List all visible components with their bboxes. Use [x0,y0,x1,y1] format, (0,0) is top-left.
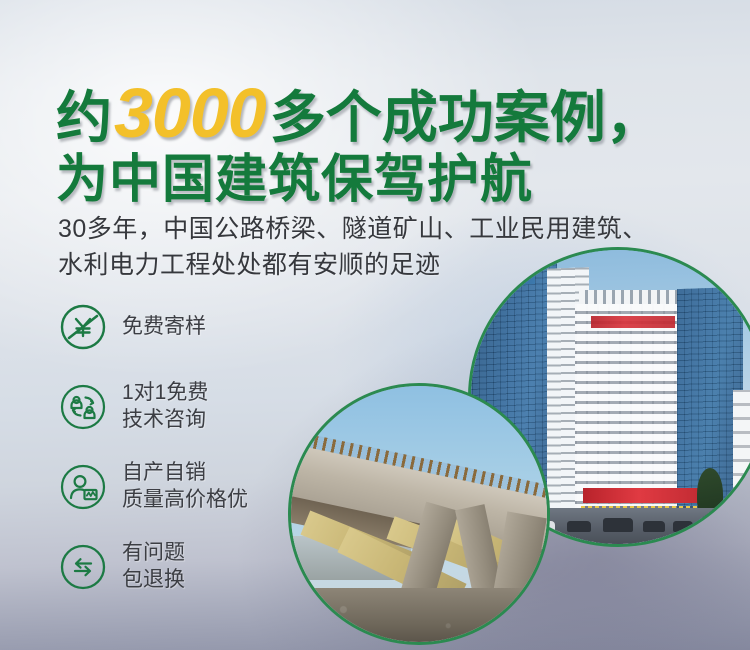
headline: 约3000多个成功案例， 为中国建筑保驾护航 [56,78,662,206]
feature-item-self-production[interactable]: 自产自销 质量高价格优 [58,456,248,518]
feature-label: 有问题 包退换 [122,540,185,594]
self-produce-sell-icon [58,462,108,512]
feature-label-line-2: 包退换 [122,567,185,594]
subheading-line-1: 30多年，中国公路桥梁、隧道矿山、工业民用建筑、 [58,212,648,248]
podium-red-sign [583,488,707,503]
feature-label-line-1: 有问题 [122,541,185,564]
headline-prefix: 约 [56,86,112,149]
headline-suffix: 多个成功案例， [270,86,662,149]
bridge-construction-photo [288,383,550,645]
feature-item-return-exchange[interactable]: 有问题 包退换 [58,536,248,598]
construction-ground [291,588,550,642]
feature-label-line-1: 免费寄样 [122,315,206,338]
feature-list: 免费寄样 1对1免费 技术咨询 [58,296,248,616]
feature-label-line-1: 1对1免费 [122,381,208,404]
feature-label: 自产自销 质量高价格优 [122,460,248,514]
free-shipping-no-fee-icon [58,302,108,352]
feature-label-line-2: 技术咨询 [122,407,208,434]
parked-car [643,521,665,532]
feature-item-consultation[interactable]: 1对1免费 技术咨询 [58,376,248,438]
feature-item-free-sample[interactable]: 免费寄样 [58,296,248,358]
rooftop-red-sign [591,316,675,328]
feature-label: 1对1免费 技术咨询 [122,380,208,434]
return-exchange-icon [58,542,108,592]
parked-car [567,521,591,532]
feature-label: 免费寄样 [122,314,206,341]
feature-label-line-1: 自产自销 [122,461,206,484]
parked-car [673,521,693,532]
subheading: 30多年，中国公路桥梁、隧道矿山、工业民用建筑、 水利电力工程处处都有安顺的足迹 [58,212,648,283]
headline-line-2: 为中国建筑保驾护航 [56,154,662,206]
headline-line-1: 约3000多个成功案例， [56,78,662,148]
feature-label-line-2: 质量高价格优 [122,487,248,514]
parked-car [603,518,633,532]
one-to-one-consult-icon [58,382,108,432]
headline-number: 3000 [112,74,270,152]
subheading-line-2: 水利电力工程处处都有安顺的足迹 [58,248,648,284]
promo-banner: 约3000多个成功案例， 为中国建筑保驾护航 30多年，中国公路桥梁、隧道矿山、… [0,0,750,650]
